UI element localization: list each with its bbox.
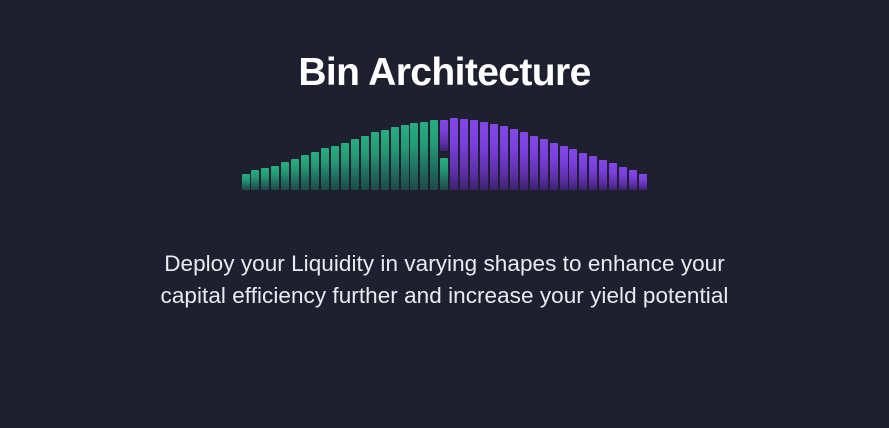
subtitle-line-1: Deploy your Liquidity in varying shapes … [85, 248, 805, 280]
bin-bar [401, 118, 409, 190]
bin-segment-base [321, 148, 329, 190]
bin-segment-quote [639, 174, 647, 190]
bin-bar [420, 118, 428, 190]
bin-segment-base [440, 158, 448, 191]
bin-segment-quote [440, 120, 448, 150]
bin-architecture-card: Bin Architecture Deploy your Liquidity i… [0, 0, 889, 428]
bin-bar [291, 118, 299, 190]
bin-bar [361, 118, 369, 190]
bin-segment-quote [470, 120, 478, 190]
bin-segment-base [301, 155, 309, 190]
bin-segment-base [281, 162, 289, 190]
bin-segment-gap [440, 151, 448, 158]
bin-segment-base [361, 136, 369, 191]
bin-bar-active [440, 118, 448, 190]
page-title: Bin Architecture [298, 52, 590, 94]
subtitle-line-2: capital efficiency further and increase … [85, 280, 805, 312]
bin-segment-base [271, 166, 279, 190]
bin-segment-quote [490, 124, 498, 190]
bin-bar [550, 118, 558, 190]
bin-bar [510, 118, 518, 190]
bin-bar [391, 118, 399, 190]
bin-segment-base [242, 174, 250, 190]
bin-bar [569, 118, 577, 190]
bin-segment-quote [460, 119, 468, 190]
bin-bar [351, 118, 359, 190]
bin-segment-quote [599, 160, 607, 190]
bin-bar [271, 118, 279, 190]
bin-segment-base [261, 168, 269, 190]
bin-bar [242, 118, 250, 190]
bin-segment-quote [480, 122, 488, 191]
bin-segment-quote [619, 167, 627, 190]
bin-segment-quote [540, 139, 548, 190]
bin-bar [301, 118, 309, 190]
bin-bar [609, 118, 617, 190]
chart-container [0, 118, 889, 190]
bin-bar [311, 118, 319, 190]
bin-segment-quote [629, 170, 637, 190]
bin-bar [341, 118, 349, 190]
bin-segment-base [430, 120, 438, 190]
bin-segment-base [351, 139, 359, 190]
bin-bar [589, 118, 597, 190]
subtitle: Deploy your Liquidity in varying shapes … [85, 248, 805, 312]
bin-bar [530, 118, 538, 190]
bin-segment-base [331, 146, 339, 190]
bin-segment-base [410, 123, 418, 190]
bin-bar [251, 118, 259, 190]
bin-bar [410, 118, 418, 190]
bin-bar [321, 118, 329, 190]
bin-bar [639, 118, 647, 190]
bin-segment-base [420, 122, 428, 191]
bin-bar [430, 118, 438, 190]
bin-segment-quote [500, 126, 508, 190]
bin-bar [261, 118, 269, 190]
bin-segment-quote [520, 132, 528, 190]
bin-distribution-chart [242, 118, 648, 190]
bin-bar [520, 118, 528, 190]
bin-segment-quote [579, 153, 587, 190]
bin-segment-quote [550, 143, 558, 191]
bin-bar [480, 118, 488, 190]
bin-bar [371, 118, 379, 190]
bin-bar [500, 118, 508, 190]
bin-segment-base [391, 127, 399, 190]
bin-segment-quote [530, 136, 538, 191]
bin-segment-quote [569, 149, 577, 190]
bin-segment-quote [589, 156, 597, 190]
bin-bar [579, 118, 587, 190]
bin-segment-quote [560, 146, 568, 190]
bin-segment-quote [450, 118, 458, 190]
bin-bar [281, 118, 289, 190]
bin-segment-base [251, 170, 259, 190]
bin-segment-base [381, 130, 389, 190]
bin-segment-base [311, 152, 319, 190]
bin-bar [490, 118, 498, 190]
bin-bar [450, 118, 458, 190]
bin-bar [540, 118, 548, 190]
bin-bar [331, 118, 339, 190]
bin-segment-base [371, 132, 379, 190]
bin-segment-base [401, 125, 409, 190]
bin-bar [381, 118, 389, 190]
bin-segment-base [291, 159, 299, 190]
bin-segment-quote [510, 129, 518, 191]
bin-bar [629, 118, 637, 190]
bin-bar [599, 118, 607, 190]
bin-bar [619, 118, 627, 190]
bin-bar [470, 118, 478, 190]
bin-segment-quote [609, 163, 617, 190]
bin-bar [560, 118, 568, 190]
bin-bar [460, 118, 468, 190]
bin-segment-base [341, 143, 349, 191]
